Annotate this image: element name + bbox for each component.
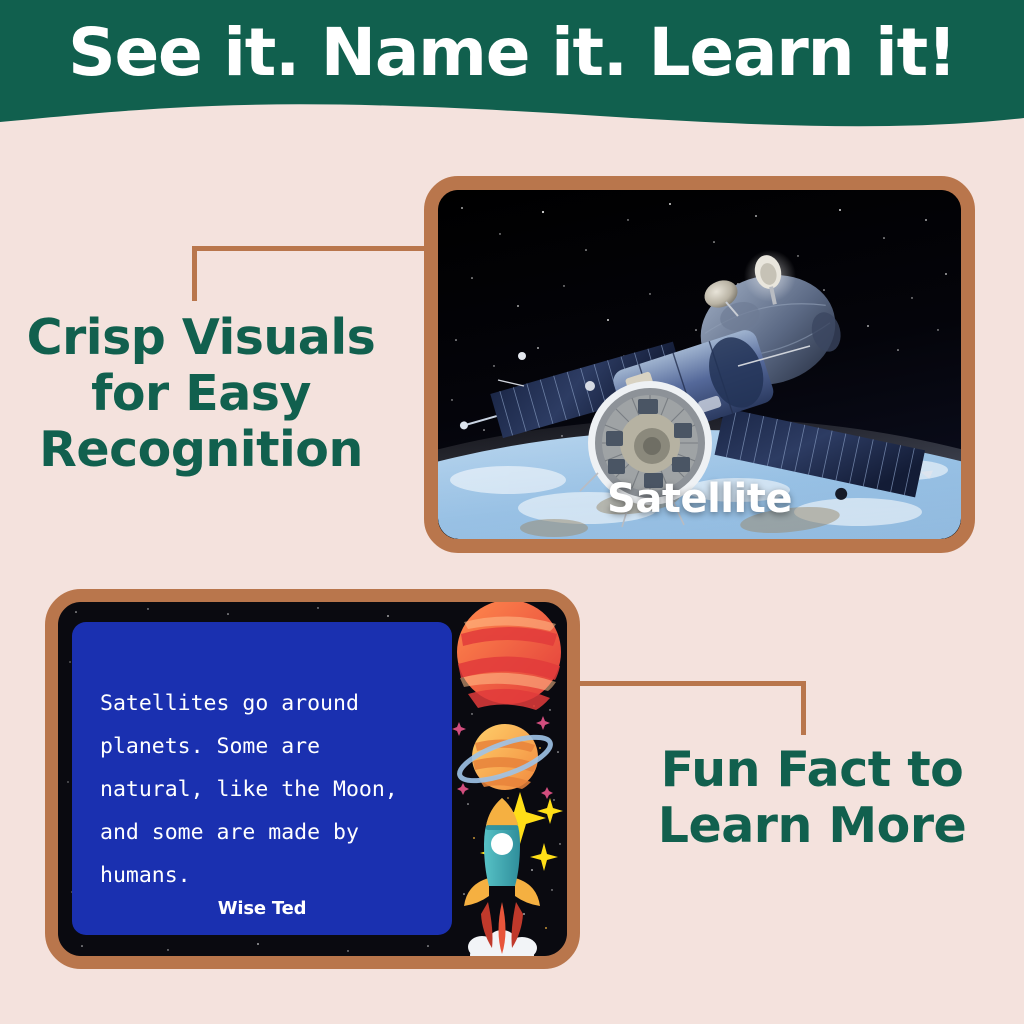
page-title: See it. Name it. Learn it! [0, 18, 1024, 87]
fun-fact-card[interactable]: Satellites go around planets. Some are n… [45, 589, 580, 969]
fact-author: Wise Ted [72, 898, 452, 919]
caption-fun-fact: Fun Fact to Learn More [612, 742, 1012, 854]
connector-visuals-vertical [192, 246, 197, 301]
caption-crisp-visuals: Crisp Visuals for Easy Recognition [6, 310, 396, 478]
fact-text-panel: Satellites go around planets. Some are n… [72, 622, 452, 935]
satellite-photo-card[interactable]: Satellite [424, 176, 975, 553]
poster-canvas: See it. Name it. Learn it! Crisp Visuals… [0, 0, 1024, 1024]
fact-text: Satellites go around planets. Some are n… [100, 682, 440, 897]
connector-funfact-vertical [801, 681, 806, 735]
connector-funfact-horizontal [566, 681, 806, 686]
connector-visuals-horizontal [192, 246, 438, 251]
header-banner: See it. Name it. Learn it! [0, 0, 1024, 132]
photo-card-label: Satellite [438, 476, 961, 522]
